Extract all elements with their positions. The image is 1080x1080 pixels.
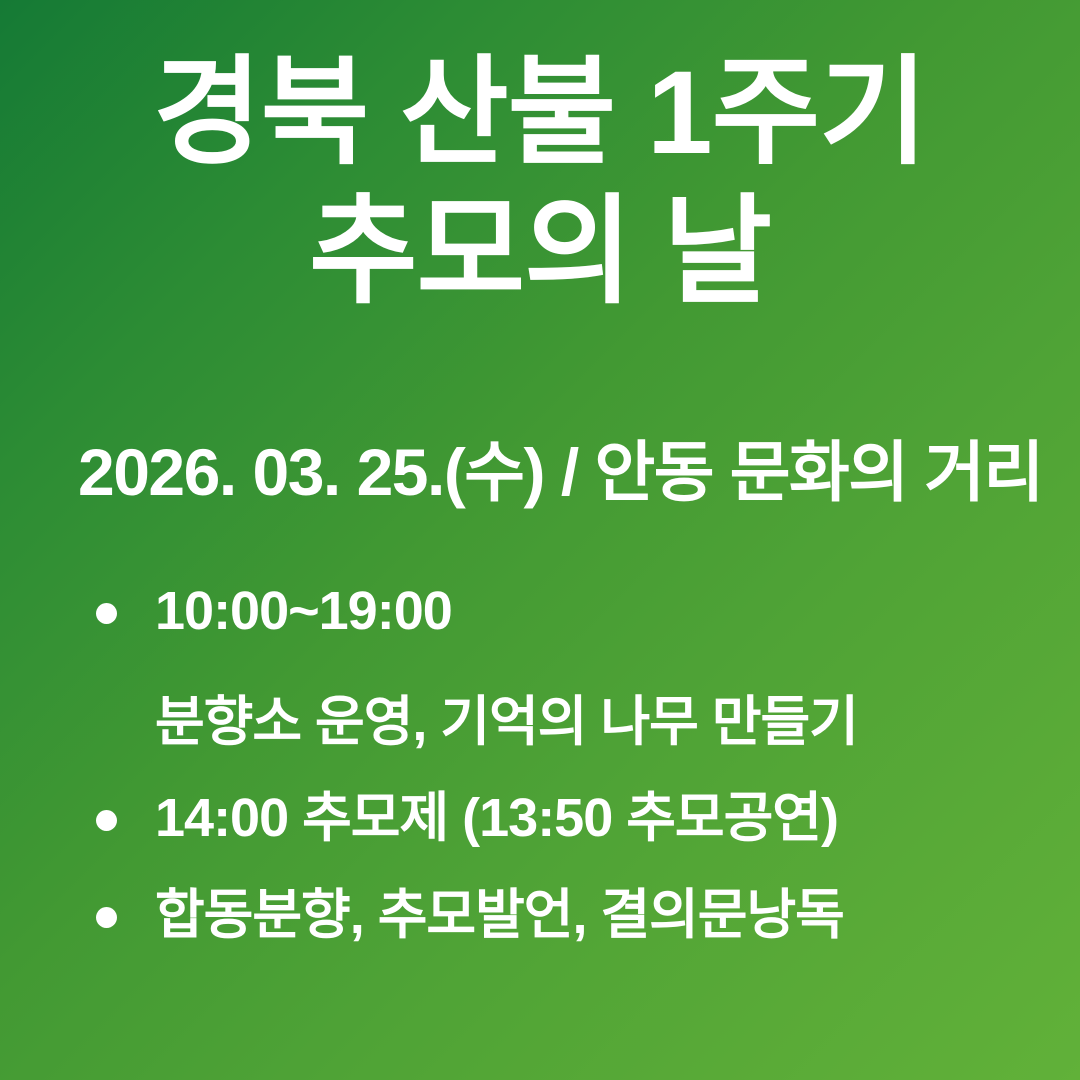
page-title: 경북 산불 1주기 추모의 날 (0, 44, 1080, 322)
schedule-item-subtext: 분향소 운영, 기억의 나무 만들기 (155, 691, 1048, 754)
schedule-bullet-row: 14:00 추모제 (13:50 추모공연) (88, 787, 1048, 850)
list-item: 합동분향, 추모발언, 결의문낭독 (88, 884, 1048, 947)
bullet-dot-icon (96, 810, 117, 831)
schedule-bullet-row: 10:00~19:00 (88, 580, 1048, 643)
schedule-item-text: 합동분향, 추모발언, 결의문낭독 (155, 884, 1048, 947)
schedule-subtext-row: 분향소 운영, 기억의 나무 만들기 (88, 691, 1048, 754)
list-item: 14:00 추모제 (13:50 추모공연) (88, 787, 1048, 850)
list-item: 10:00~19:00 분향소 운영, 기억의 나무 만들기 (88, 580, 1048, 753)
schedule-item-text: 14:00 추모제 (13:50 추모공연) (155, 787, 1048, 850)
title-line-1: 경북 산불 1주기 (0, 44, 1080, 183)
bullet-dot-icon (96, 603, 117, 624)
bullet-dot-icon (96, 907, 117, 928)
schedule-bullet-row: 합동분향, 추모발언, 결의문낭독 (88, 884, 1048, 947)
schedule-item-text: 10:00~19:00 (155, 580, 1048, 643)
schedule-list: 10:00~19:00 분향소 운영, 기억의 나무 만들기 14:00 추모제… (88, 580, 1048, 947)
title-line-2: 추모의 날 (0, 183, 1080, 322)
poster-canvas: 경북 산불 1주기 추모의 날 2026. 03. 25.(수) / 안동 문화… (0, 0, 1080, 1080)
date-location-line: 2026. 03. 25.(수) / 안동 문화의 거리 (78, 437, 1018, 508)
